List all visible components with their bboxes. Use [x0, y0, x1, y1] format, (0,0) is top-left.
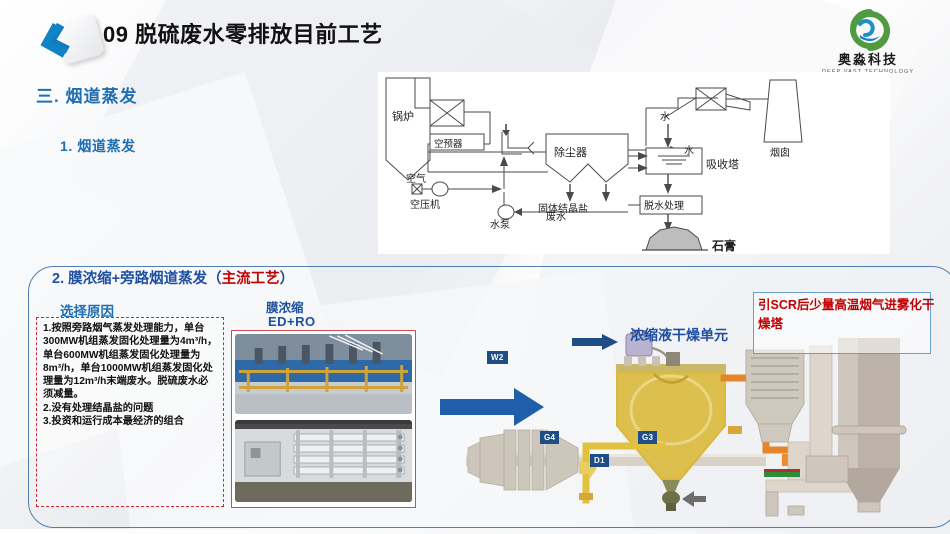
reason-item-2: 2.没有处理结晶盐的问题: [43, 402, 218, 415]
scr-note-text: 引SCR后少量高温烟气进雾化干燥塔: [758, 296, 943, 335]
label-water-pump: 水泵: [490, 219, 510, 231]
label-stack: 烟囱: [770, 146, 790, 159]
label-boiler: 锅炉: [392, 110, 414, 123]
slide-canvas: 09 脱硫废水零排放目前工艺 奥淼科技 DEEP VAST TECHNOLOGY…: [0, 0, 950, 534]
label-absorber: 吸收塔: [706, 157, 739, 171]
reverse-osmosis-skid-photo: [235, 420, 412, 502]
tag-g4: G4: [540, 431, 559, 444]
label-gypsum: 石膏: [711, 238, 736, 253]
concentrate-drying-unit-diagram: [466, 330, 936, 525]
membrane-concentration-plant-photo: [235, 334, 412, 414]
label-water-2: 水: [660, 111, 670, 123]
label-air-compressor: 空压机: [410, 198, 440, 211]
label-air-preheater: 空预器: [434, 138, 463, 150]
circular-swirl-icon: [840, 8, 896, 48]
flue-gas-flow-diagram: 锅炉 空预器 除尘器 空气 空压机 水泵 废水 固体结晶盐 水 水 吸收塔 脱水…: [378, 72, 890, 254]
heading-red: 主流工艺: [222, 271, 280, 287]
membrane-photo-frame: [231, 330, 416, 508]
tag-w2: W2: [487, 351, 508, 364]
tag-g3: G3: [638, 431, 657, 444]
lower-section-heading: 2. 膜浓缩+旁路烟道蒸发（主流工艺）: [52, 270, 472, 290]
slide-logo-mark: [28, 12, 114, 74]
label-dust-collector: 除尘器: [554, 145, 587, 159]
subsection-heading: 1. 烟道蒸发: [60, 136, 136, 156]
page-title: 09 脱硫废水零排放目前工艺: [103, 22, 433, 49]
section-heading: 三. 烟道蒸发: [36, 82, 137, 107]
label-water-1: 水: [684, 145, 694, 157]
concentrate-drying-unit-label: 浓缩液干燥单元: [630, 327, 742, 345]
label-dewatering: 脱水处理: [644, 199, 684, 212]
heading-tail: ）: [280, 271, 295, 287]
label-air: 空气: [406, 172, 426, 185]
photo-caption-en: ED+RO: [268, 314, 316, 329]
heading-main: 2. 膜浓缩+旁路烟道蒸发（: [52, 271, 222, 287]
company-logo: 奥淼科技 DEEP VAST TECHNOLOGY: [804, 8, 932, 80]
reason-item-1: 1.按照旁路烟气蒸发处理能力，单台300MW机组蒸发固化处理量为4m³/h，单台…: [43, 322, 218, 402]
reason-item-3: 3.投资和运行成本最经济的组合: [43, 415, 218, 428]
bottom-strip: [0, 529, 950, 534]
label-solid-salt: 固体结晶盐: [538, 202, 588, 215]
reasons-textbox: 1.按照旁路烟气蒸发处理能力，单台300MW机组蒸发固化处理量为4m³/h，单台…: [36, 317, 224, 507]
tag-d1: D1: [590, 454, 609, 467]
